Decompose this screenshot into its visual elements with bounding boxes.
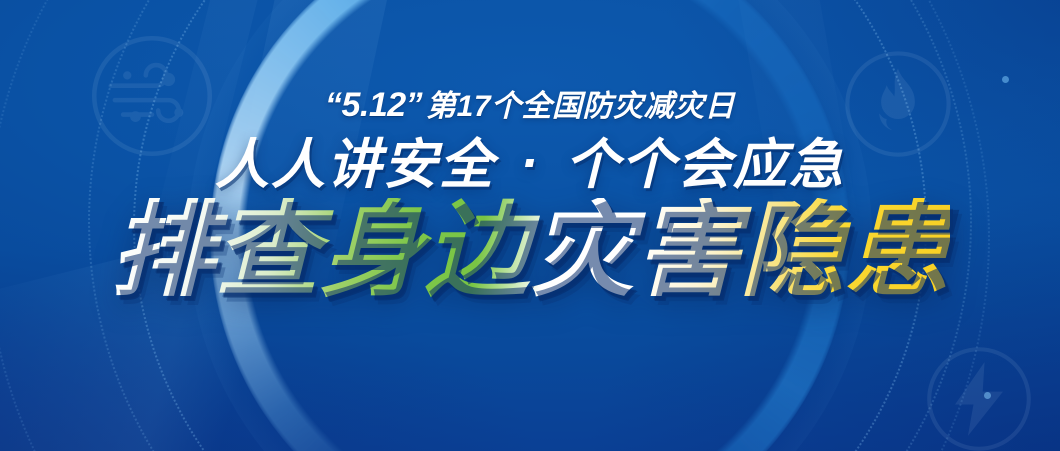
slogan-left: 人人讲安全 xyxy=(215,135,495,195)
slogan-separator: · xyxy=(520,136,540,190)
anniversary-title: 第17个全国防灾减灾日 xyxy=(426,90,735,123)
headline-line-3-text: 排查身边灾害隐患 xyxy=(110,193,950,309)
anniversary-date: “5.12” xyxy=(325,86,422,124)
headline-block: “5.12”第17个全国防灾减灾日 人人讲安全 · 个个会应急 排查身边灾害隐患… xyxy=(0,0,1060,451)
slogan-right: 个个会应急 xyxy=(565,135,845,195)
headline-line-2: 人人讲安全 · 个个会应急 xyxy=(215,138,845,192)
headline-line-1: “5.12”第17个全国防灾减灾日 xyxy=(325,88,735,122)
headline-line-3: 排查身边灾害隐患 排查身边灾害隐患 xyxy=(110,198,950,304)
disaster-prevention-banner: “5.12”第17个全国防灾减灾日 人人讲安全 · 个个会应急 排查身边灾害隐患… xyxy=(0,0,1060,451)
